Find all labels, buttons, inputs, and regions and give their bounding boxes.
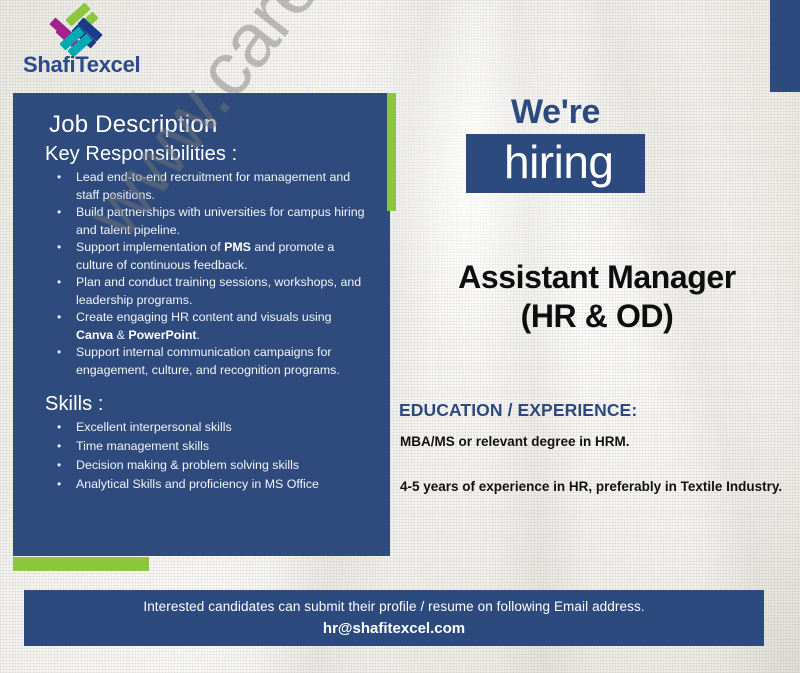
hiring-label: hiring (504, 133, 614, 192)
pinwheel-logo-icon (47, 8, 109, 56)
responsibility-item: Support implementation of PMS and promot… (35, 239, 372, 274)
skill-item: Analytical Skills and proficiency in MS … (35, 475, 372, 494)
responsibility-item: Support internal communication campaigns… (35, 344, 372, 379)
job-description-panel: Job Description Key Responsibilities : L… (13, 93, 390, 556)
job-title: Assistant Manager (HR & OD) (398, 258, 796, 336)
skills-list: Excellent interpersonal skillsTime manag… (35, 418, 372, 494)
job-title-line-2: (HR & OD) (398, 297, 796, 336)
brand-name: ShafiTexcel (23, 52, 140, 78)
green-accent-horizontal (13, 557, 149, 571)
were-label: We're (511, 93, 600, 132)
job-poster: ShafiTexcel Job Description Key Responsi… (0, 0, 800, 673)
skill-item: Decision making & problem solving skills (35, 456, 372, 475)
responsibilities-heading: Key Responsibilities : (45, 143, 372, 166)
responsibility-item: Build partnerships with universities for… (35, 204, 372, 239)
footer-instruction: Interested candidates can submit their p… (24, 590, 764, 614)
panel-title: Job Description (49, 111, 372, 139)
education-heading: EDUCATION / EXPERIENCE: (399, 400, 637, 421)
top-right-blue-strip (770, 0, 800, 92)
company-logo: ShafiTexcel (23, 6, 203, 86)
skill-item: Time management skills (35, 437, 372, 456)
responsibility-item: Create engaging HR content and visuals u… (35, 309, 372, 344)
responsibilities-list: Lead end-to-end recruitment for manageme… (35, 169, 372, 379)
footer-bar: Interested candidates can submit their p… (24, 590, 764, 646)
green-accent-vertical (387, 93, 396, 211)
skill-item: Excellent interpersonal skills (35, 418, 372, 437)
job-title-line-1: Assistant Manager (398, 258, 796, 297)
responsibility-item: Lead end-to-end recruitment for manageme… (35, 169, 372, 204)
experience-requirement: 4-5 years of experience in HR, preferabl… (400, 477, 785, 497)
contact-email[interactable]: hr@shafitexcel.com (24, 614, 764, 637)
education-requirement: MBA/MS or relevant degree in HRM. (400, 434, 630, 449)
skills-heading: Skills : (45, 393, 372, 416)
responsibility-item: Plan and conduct training sessions, work… (35, 274, 372, 309)
